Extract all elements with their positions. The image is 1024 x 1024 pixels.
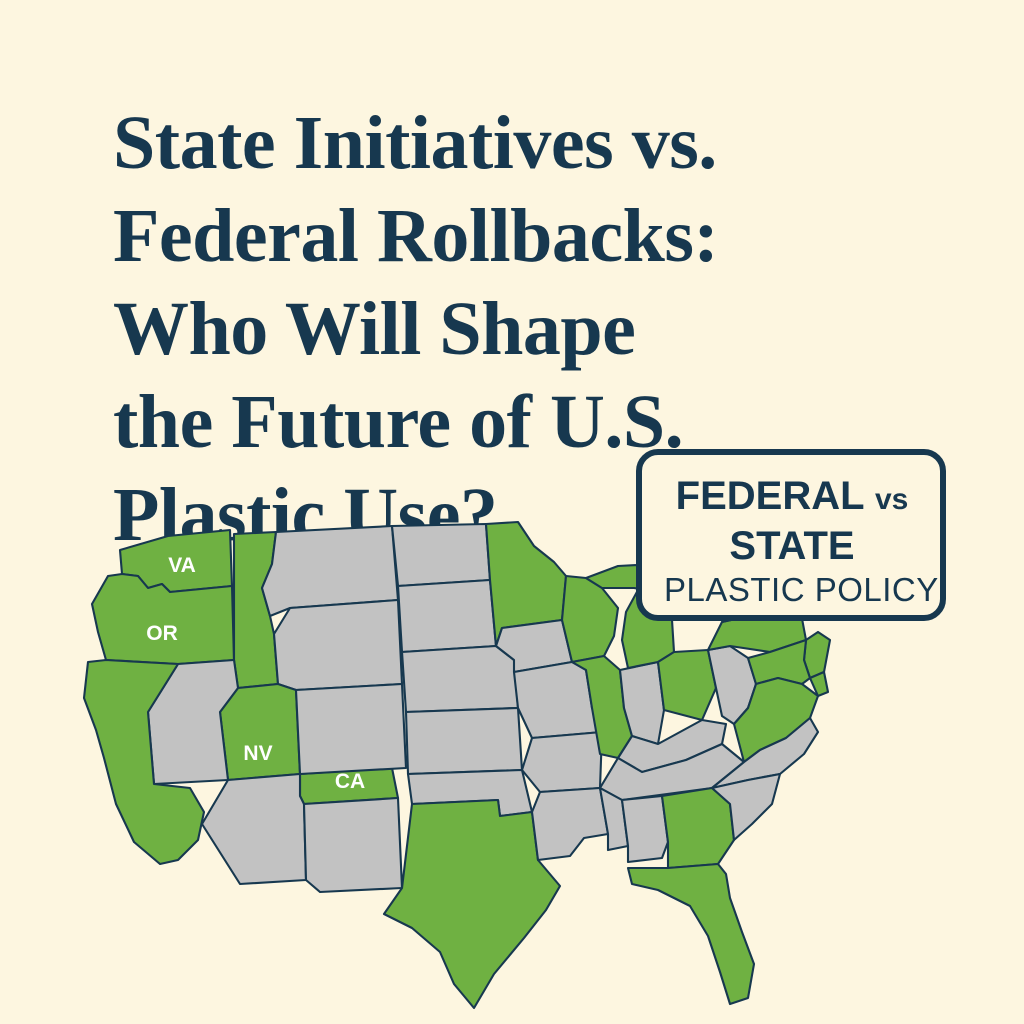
map-label-or: OR xyxy=(146,622,178,645)
map-label-nv: NV xyxy=(243,742,272,765)
state-georgia xyxy=(662,788,734,868)
state-colorado xyxy=(296,684,406,774)
state-arizona xyxy=(202,774,306,884)
headline-line-2: Federal Rollbacks: xyxy=(113,190,833,283)
state-south-dakota xyxy=(398,580,496,652)
state-nebraska xyxy=(402,646,518,712)
callout-badge: FEDERAL vs STATE PLASTIC POLICY xyxy=(636,449,946,621)
map-label-va: VA xyxy=(168,554,196,577)
callout-line-1: FEDERAL vs xyxy=(664,473,920,523)
state-wyoming xyxy=(274,600,402,690)
state-ohio xyxy=(658,650,716,720)
headline-line-3: Who Will Shape xyxy=(113,283,833,376)
map-label-ca: CA xyxy=(335,770,365,793)
callout-federal-text: FEDERAL xyxy=(676,474,864,518)
state-florida xyxy=(628,864,754,1004)
state-oregon xyxy=(92,574,234,664)
state-new-mexico xyxy=(304,798,402,892)
state-louisiana xyxy=(532,788,608,860)
state-north-dakota xyxy=(392,524,490,586)
state-kansas xyxy=(406,708,522,774)
state-arkansas xyxy=(522,732,602,792)
state-nevada xyxy=(220,684,300,780)
callout-line-2: STATE xyxy=(664,523,920,569)
poster-canvas: State Initiatives vs. Federal Rollbacks:… xyxy=(0,0,1024,1024)
callout-line-3: PLASTIC POLICY xyxy=(664,569,920,611)
headline-line-1: State Initiatives vs. xyxy=(113,97,833,190)
state-alabama xyxy=(622,796,668,862)
callout-vs-text: vs xyxy=(875,483,908,516)
